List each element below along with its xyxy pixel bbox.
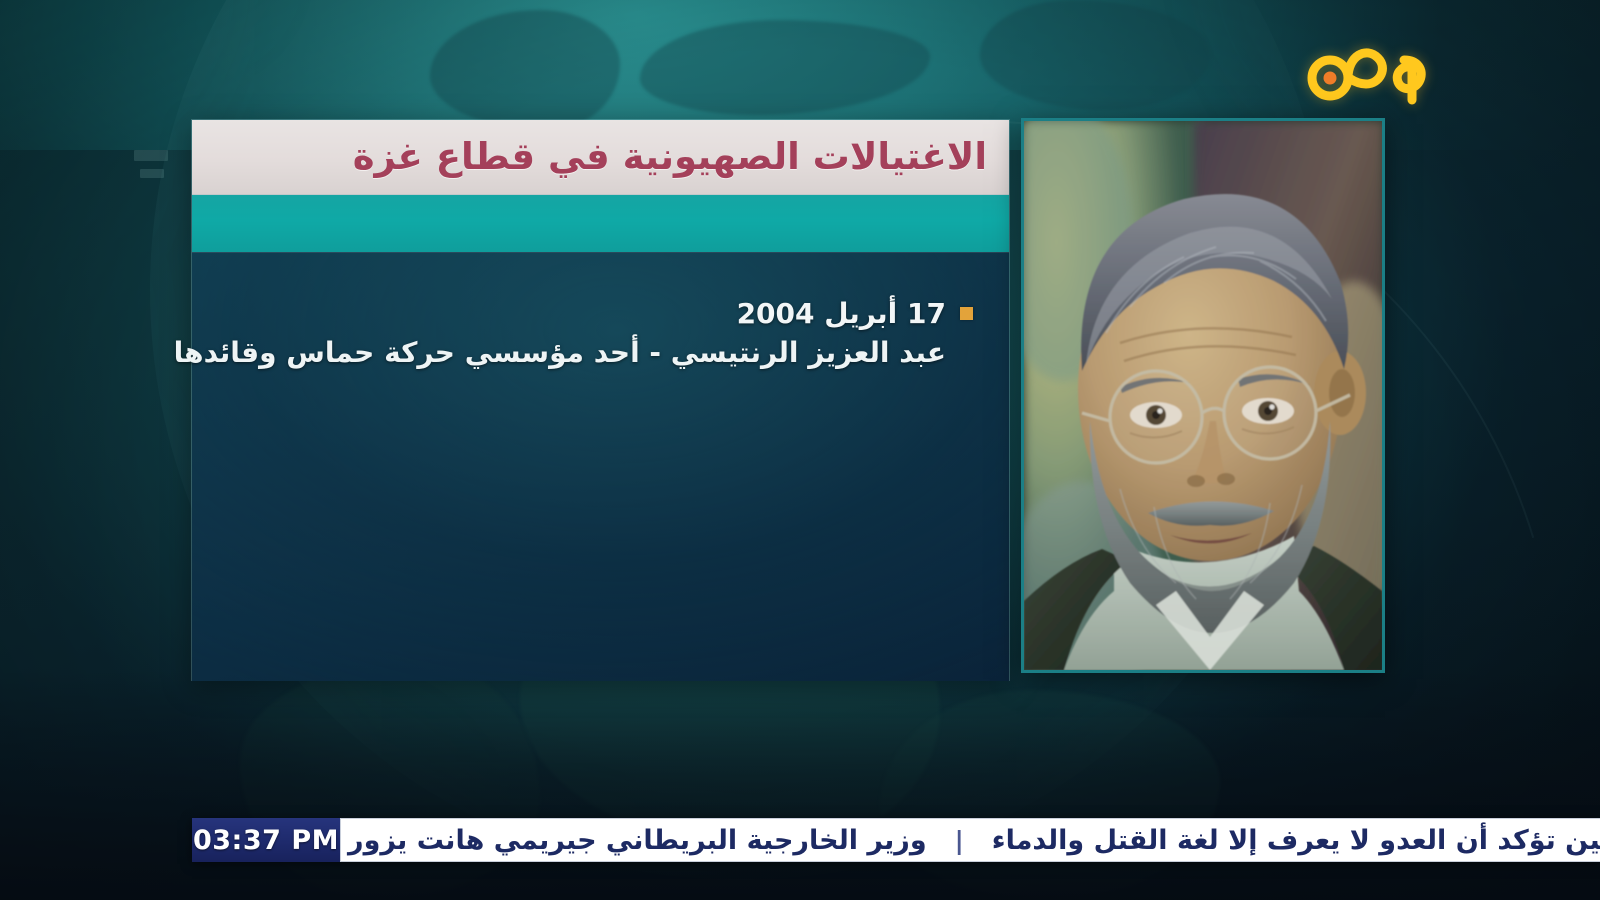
- info-panel: الاغتيالات الصهيونية في قطاع غزة 17 أبري…: [191, 119, 1010, 681]
- decorative-tick-marks: [134, 150, 168, 178]
- clock-time: 03:37 PM: [192, 818, 340, 862]
- watan-logo-icon: [1304, 36, 1430, 110]
- logo-dot-icon: [1324, 72, 1337, 85]
- ticker-headline[interactable]: ومين تؤكد أن العدو لا يعرف إلا لغة القتل…: [974, 825, 1600, 856]
- list-item-text: 17 أبريل 2004 عبد العزيز الرنتيسي - أحد …: [174, 295, 946, 373]
- channel-logo: [1302, 30, 1432, 116]
- panel-body: 17 أبريل 2004 عبد العزيز الرنتيسي - أحد …: [192, 252, 1009, 681]
- news-ticker: ومين تؤكد أن العدو لا يعرف إلا لغة القتل…: [192, 818, 1600, 862]
- broadcast-screen: الاغتيالات الصهيونية في قطاع غزة 17 أبري…: [0, 0, 1600, 900]
- panel-title-bar: الاغتيالات الصهيونية في قطاع غزة: [192, 120, 1009, 195]
- entry-description: عبد العزيز الرنتيسي - أحد مؤسسي حركة حما…: [174, 333, 946, 374]
- ticker-separator: |: [945, 826, 974, 855]
- tick-mark-icon: [134, 150, 168, 161]
- ticker-headline[interactable]: وزير الخارجية البريطاني جيريمي هانت يزور…: [340, 825, 945, 856]
- panel-accent-bar: [192, 195, 1009, 252]
- bullet-square-icon: [960, 307, 973, 320]
- portrait-photo: [1021, 118, 1385, 673]
- tick-mark-icon: [140, 169, 164, 178]
- entry-date: 17 أبريل 2004: [174, 295, 946, 333]
- page-title: الاغتيالات الصهيونية في قطاع غزة: [353, 138, 987, 177]
- ticker-headline-strip[interactable]: ومين تؤكد أن العدو لا يعرف إلا لغة القتل…: [340, 818, 1600, 862]
- portrait-photo-image: [1024, 121, 1382, 670]
- background-bottom-shade: [0, 670, 1600, 900]
- ticker-items: ومين تؤكد أن العدو لا يعرف إلا لغة القتل…: [340, 825, 1600, 856]
- list-item: 17 أبريل 2004 عبد العزيز الرنتيسي - أحد …: [228, 295, 973, 373]
